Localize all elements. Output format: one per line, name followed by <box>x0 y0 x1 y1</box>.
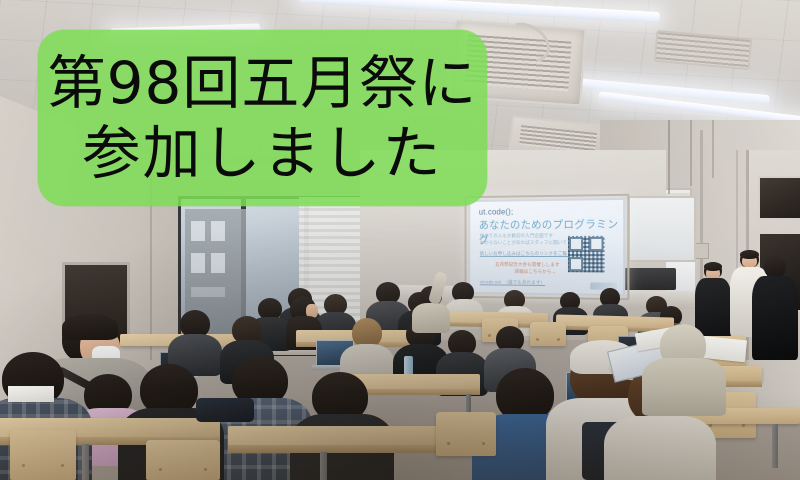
qr-finder-pattern <box>569 257 583 271</box>
whiteboard <box>628 196 696 262</box>
wall-outlet <box>694 243 709 259</box>
desk-leg <box>320 452 327 480</box>
bag <box>196 398 254 422</box>
chair <box>146 440 220 480</box>
projector-screen: ut.code(); あなたのためのプログラミング 初めての人も大歓迎の入門企画… <box>468 198 625 296</box>
exterior-window <box>191 253 205 273</box>
chair <box>436 412 496 456</box>
door-window <box>758 176 800 220</box>
slide-title: ut.code(); <box>479 207 514 216</box>
caption-overlay: 第98回五月祭に 参加しました <box>38 30 487 206</box>
exterior-window <box>191 221 205 241</box>
notebook <box>8 386 54 402</box>
chair <box>530 322 566 346</box>
desk-edge <box>228 445 458 453</box>
caption-line-2: 参加しました <box>82 119 442 187</box>
qr-code-icon <box>568 236 605 273</box>
ceiling-cable <box>690 120 692 186</box>
desk <box>228 426 458 446</box>
exterior-window <box>211 253 225 273</box>
desk-leg <box>772 424 778 468</box>
slide-body-line: 初めての人も大歓迎の入門企画です <box>480 233 553 239</box>
ceiling-cable <box>668 120 670 194</box>
exterior-window <box>191 287 225 297</box>
slide-highlight-line: 五月祭記念大会も開催しします <box>495 262 560 268</box>
desk-leg <box>82 444 89 480</box>
qr-finder-pattern <box>569 237 583 251</box>
photo-canvas: ut.code(); あなたのためのプログラミング 初めての人も大歓迎の入門企画… <box>0 0 800 480</box>
slide-link-line: utcode.net （誰でも見れます） <box>480 279 545 286</box>
qr-finder-pattern <box>589 237 603 251</box>
slide-highlight-line: 詳細はこちらから→ <box>515 269 557 275</box>
exterior-window <box>211 221 225 241</box>
vent-grille <box>519 125 597 153</box>
chair <box>10 430 76 480</box>
caption-line-1: 第98回五月祭に <box>48 49 478 117</box>
ceiling-cable <box>712 120 714 178</box>
